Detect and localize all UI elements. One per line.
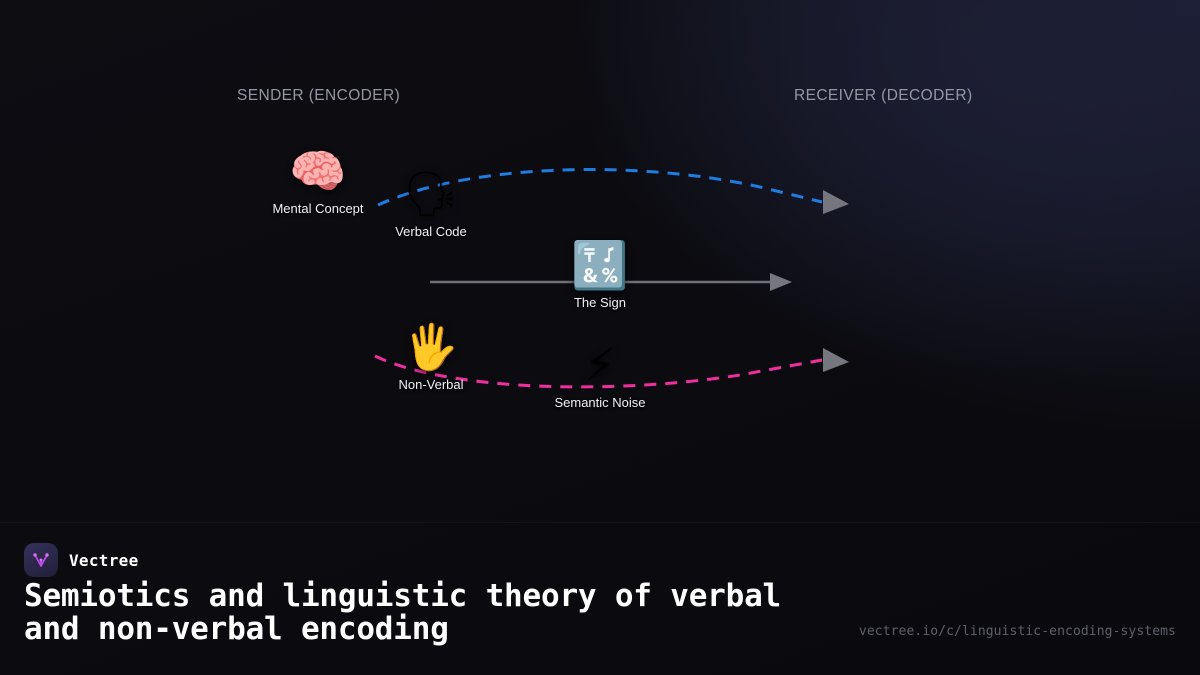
footer-divider xyxy=(0,522,1200,523)
diagram-node-verbal-code[interactable]: 🗣 Verbal Code xyxy=(395,173,467,239)
brain-icon: 🧠 xyxy=(289,148,346,194)
diagram-node-non-verbal[interactable]: 🖐 Non-Verbal xyxy=(398,326,463,392)
arrowhead-non-verbal-channel xyxy=(823,348,849,372)
column-header-sender: SENDER (ENCODER) xyxy=(237,87,400,105)
diagram-node-label: Semantic Noise xyxy=(554,395,645,410)
column-header-receiver: RECEIVER (DECODER) xyxy=(794,87,973,105)
diagram-node-mental-concept[interactable]: 🧠 Mental Concept xyxy=(272,148,363,216)
diagram-node-label: The Sign xyxy=(574,295,626,310)
brand-row: Vectree xyxy=(24,543,139,577)
brand-name: Vectree xyxy=(69,551,139,570)
raised-hand-icon: 🖐 xyxy=(404,326,459,370)
screenshot-canvas: SENDER (ENCODER) RECEIVER (DECODER) 🧠 Me… xyxy=(0,0,1200,675)
high-voltage-icon: ⚡ xyxy=(585,344,616,388)
diagram-node-label: Verbal Code xyxy=(395,224,467,239)
vectree-logo-icon xyxy=(24,543,58,577)
arrowhead-verbal-channel xyxy=(823,190,849,214)
diagram-node-label: Mental Concept xyxy=(272,201,363,216)
input-symbols-icon: 🔣 xyxy=(571,242,628,288)
diagram-node-semantic-noise[interactable]: ⚡ Semantic Noise xyxy=(554,344,645,410)
diagram-node-label: Non-Verbal xyxy=(398,377,463,392)
diagram-node-the-sign[interactable]: 🔣 The Sign xyxy=(571,242,628,310)
arrowhead-sign-channel xyxy=(770,273,792,291)
source-url: vectree.io/c/linguistic-encoding-systems xyxy=(859,624,1176,639)
page-title: Semiotics and linguistic theory of verba… xyxy=(24,580,814,646)
speaking-head-icon: 🗣 xyxy=(403,173,459,217)
